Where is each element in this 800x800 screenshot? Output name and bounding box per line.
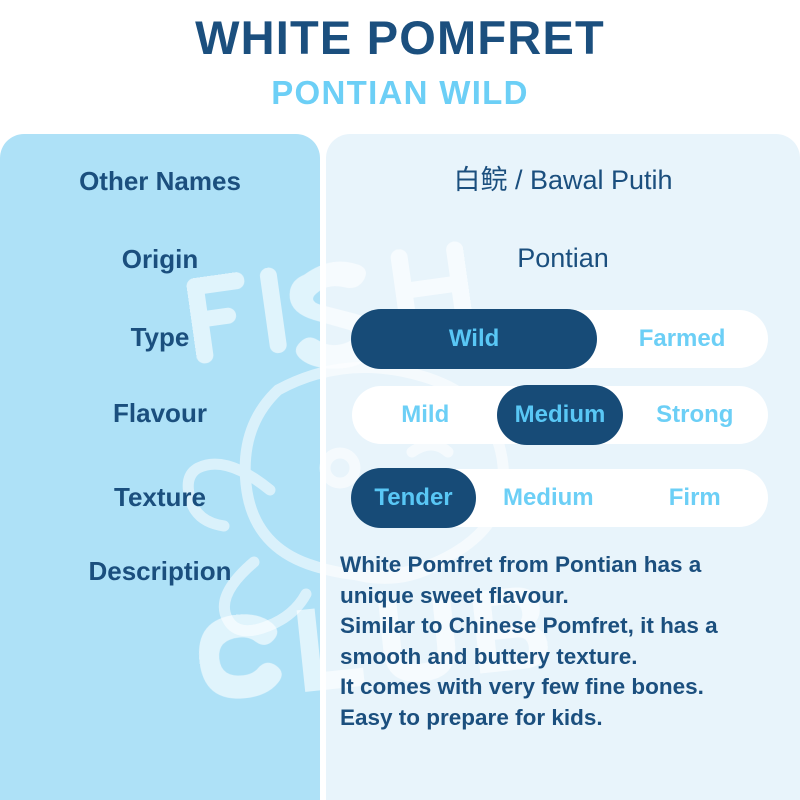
flavour-option-mild[interactable]: Mild: [352, 386, 498, 444]
texture-option-firm[interactable]: Firm: [622, 469, 768, 527]
texture-option-tender[interactable]: Tender: [352, 469, 475, 527]
row-label-other-names: Other Names: [0, 168, 320, 194]
label-column-panel: [0, 134, 320, 800]
type-option-wild[interactable]: Wild: [352, 310, 596, 368]
texture-segmented-control[interactable]: Tender Medium Firm: [352, 469, 768, 527]
row-label-texture: Texture: [0, 484, 320, 510]
description-text: White Pomfret from Pontian has a unique …: [340, 550, 770, 734]
value-origin: Pontian: [326, 245, 800, 272]
fish-info-card: WHITE POMFRET PONTIAN WILD: [0, 0, 800, 800]
type-option-farmed[interactable]: Farmed: [596, 310, 768, 368]
row-label-origin: Origin: [0, 246, 320, 272]
texture-option-medium[interactable]: Medium: [475, 469, 621, 527]
card-header: WHITE POMFRET PONTIAN WILD: [0, 0, 800, 134]
page-title: WHITE POMFRET: [0, 14, 800, 61]
page-subtitle: PONTIAN WILD: [0, 76, 800, 109]
flavour-segmented-control[interactable]: Mild Medium Strong: [352, 386, 768, 444]
flavour-option-strong[interactable]: Strong: [622, 386, 768, 444]
flavour-option-medium[interactable]: Medium: [498, 386, 621, 444]
type-segmented-control[interactable]: Wild Farmed: [352, 310, 768, 368]
value-other-names: 白鲩 / Bawal Putih: [326, 167, 800, 194]
row-label-flavour: Flavour: [0, 400, 320, 426]
row-label-description: Description: [0, 558, 320, 584]
row-label-type: Type: [0, 324, 320, 350]
